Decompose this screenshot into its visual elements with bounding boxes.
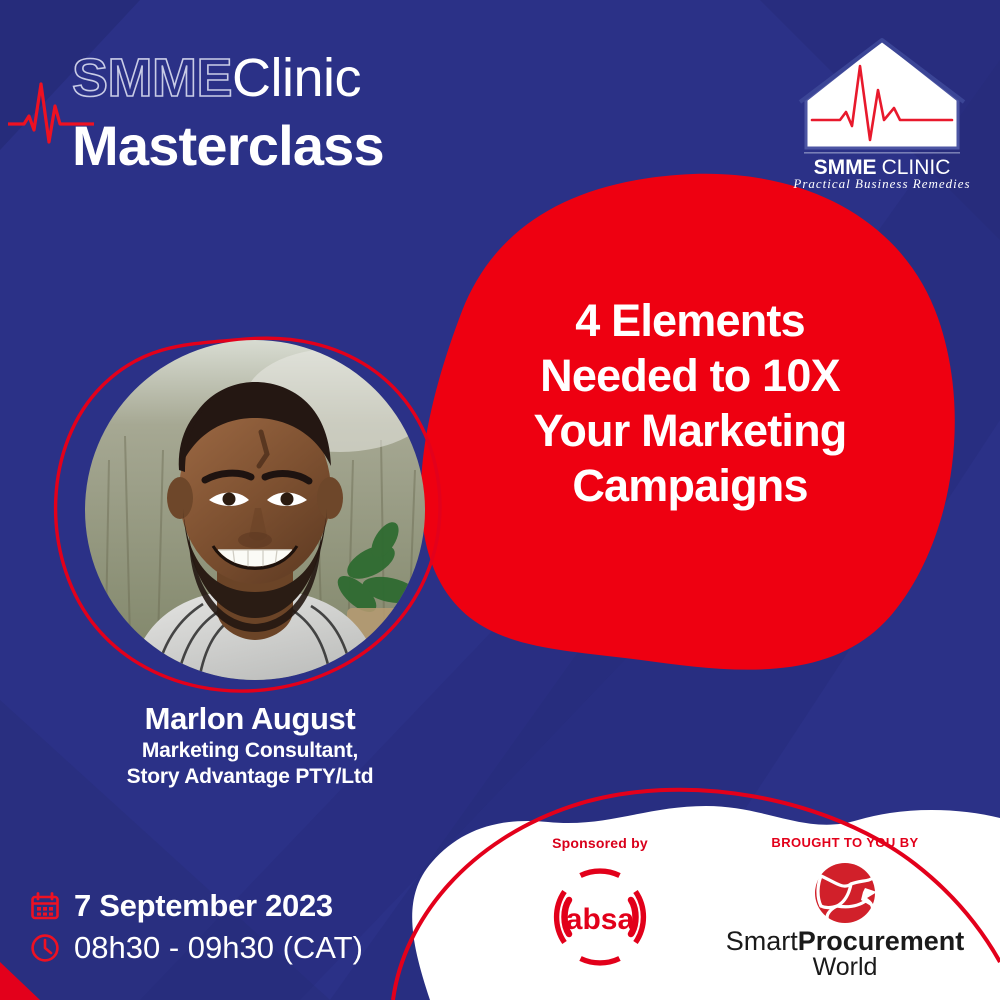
svg-text:SmartProcurement: SmartProcurement	[726, 926, 965, 956]
speaker-name: Marlon August	[0, 700, 500, 738]
calendar-icon	[30, 891, 60, 921]
headline-line: Your Marketing	[533, 403, 846, 458]
smme-clinic-logo: SMMECLINIC Practical Business Remedies	[782, 28, 982, 190]
sponsor-smartprocurement: BROUGHT TO YOU BY	[705, 835, 985, 983]
headline-line: Needed to 10X	[540, 348, 840, 403]
avatar	[85, 340, 425, 680]
title-lockup: SMMEClinic Masterclass	[72, 48, 592, 178]
smartprocurement-world-logo[interactable]: SmartProcurement World	[725, 860, 965, 978]
spw-procurement: Procurement	[798, 926, 965, 956]
poster-canvas: SMMEClinic Masterclass SMMECLINIC Practi…	[0, 0, 1000, 1000]
title-masterclass: Masterclass	[72, 114, 592, 178]
clock-icon	[30, 933, 60, 963]
speaker-photo	[85, 340, 425, 680]
spw-smart: Smart	[726, 926, 799, 956]
event-datetime: 7 September 2023 08h30 - 09h30 (CAT)	[30, 885, 460, 969]
brought-to-you-by-label: BROUGHT TO YOU BY	[705, 835, 985, 850]
event-date-row: 7 September 2023	[30, 885, 460, 927]
title-clinic: Clinic	[232, 48, 361, 108]
speaker-info: Marlon August Marketing Consultant, Stor…	[0, 700, 500, 790]
clinic-logo-tagline: Practical Business Remedies	[792, 176, 970, 190]
spw-world: World	[813, 953, 878, 978]
event-time: 08h30 - 09h30 (CAT)	[74, 930, 363, 966]
speaker-role-line-2: Story Advantage PTY/Ltd	[0, 764, 500, 790]
speaker-role-line-1: Marketing Consultant,	[0, 738, 500, 764]
house-clinic-icon	[806, 40, 958, 148]
sponsor-area: Sponsored by absa BROUGHT TO YOU BY	[470, 835, 990, 1000]
portrait-illustration	[85, 340, 425, 680]
headline-line: Campaigns	[572, 458, 807, 513]
globe-icon	[815, 863, 877, 923]
absa-logo[interactable]: absa	[550, 867, 650, 967]
title-line-one: SMMEClinic	[72, 48, 592, 108]
headline-block: 4 Elements Needed to 10X Your Marketing …	[455, 258, 925, 548]
sponsored-by-label: Sponsored by	[500, 835, 700, 851]
event-date: 7 September 2023	[74, 888, 333, 924]
headline-line: 4 Elements	[575, 293, 805, 348]
absa-wordmark: absa	[566, 903, 635, 936]
title-smme: SMME	[72, 48, 232, 108]
sponsor-absa: Sponsored by absa	[500, 835, 700, 972]
event-time-row: 08h30 - 09h30 (CAT)	[30, 927, 460, 969]
